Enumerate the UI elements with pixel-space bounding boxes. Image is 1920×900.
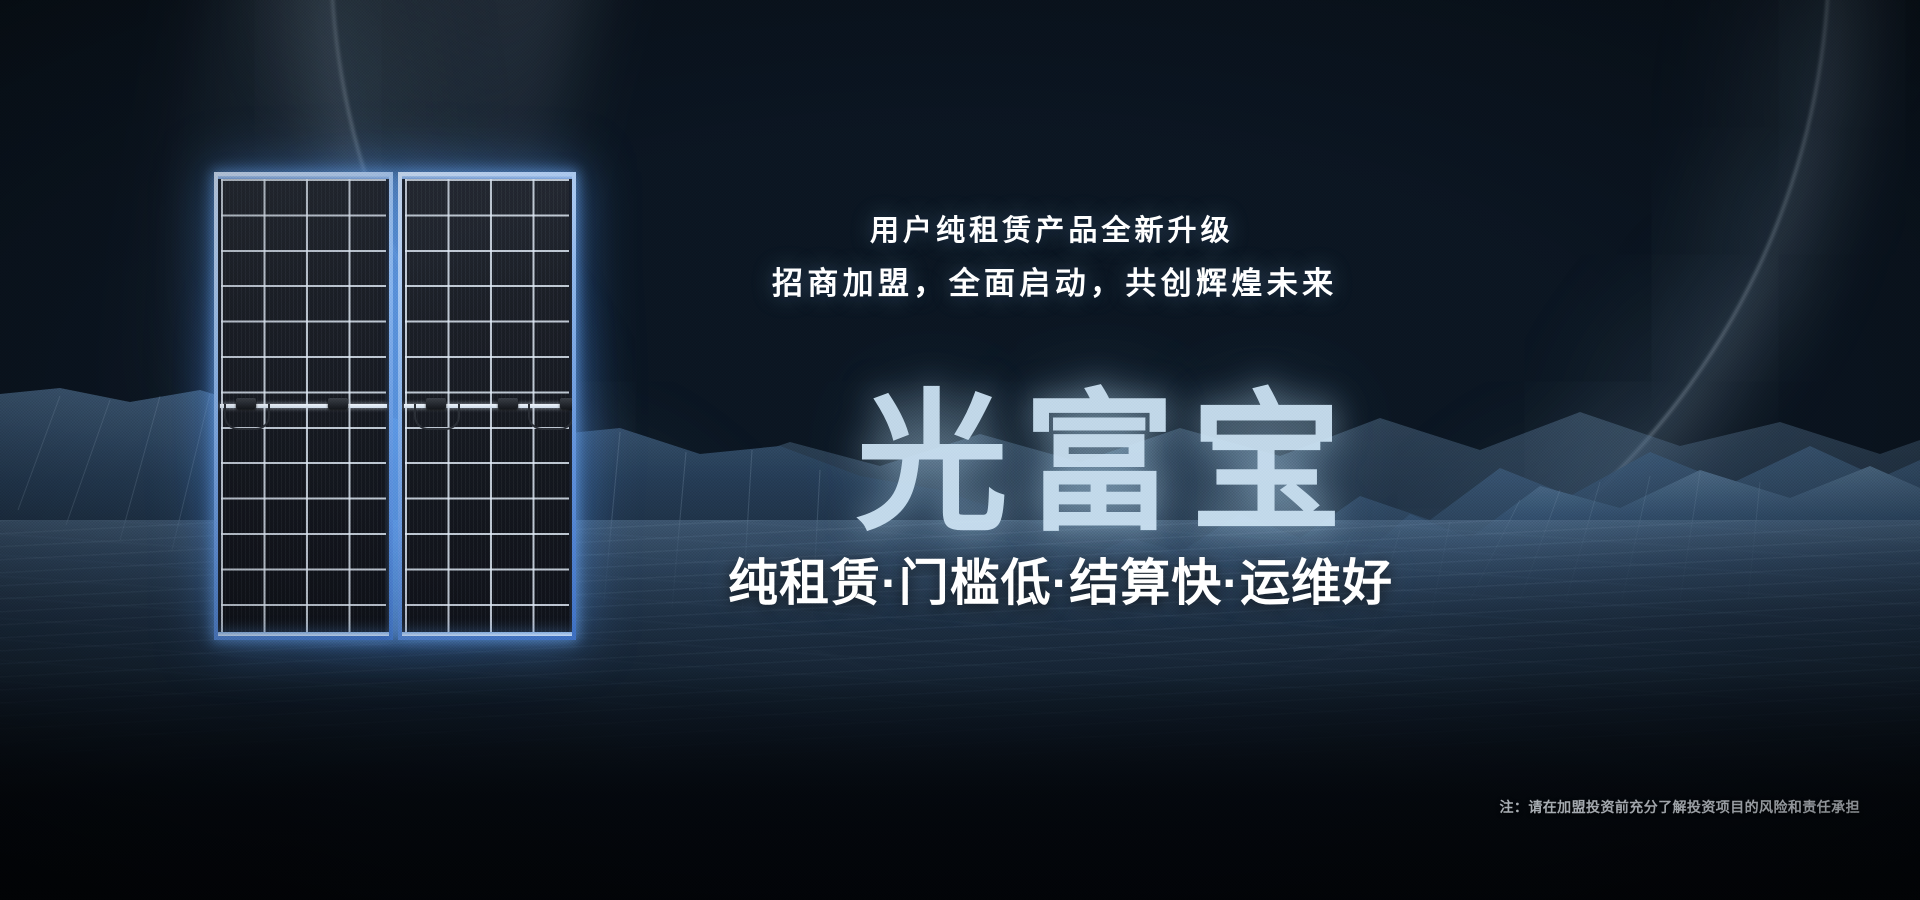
panel-frame-top: [398, 172, 577, 179]
panel-frame-top: [214, 172, 393, 179]
panel-half-left: [214, 172, 393, 640]
panel-cable: [224, 404, 270, 430]
promo-banner: 用户纯租赁产品全新升级 招商加盟，全面启动，共创辉煌未来 光富宝 纯租赁·门槛低…: [0, 0, 1920, 900]
panel-body: [214, 172, 576, 640]
panel-frame-bottom: [398, 632, 577, 640]
panel-frame-bottom: [214, 632, 393, 640]
panel-half-right: [398, 172, 577, 640]
solar-panel-product[interactable]: [214, 172, 576, 640]
junction-box: [498, 398, 518, 409]
foreground-shadow: [0, 670, 1920, 900]
panel-cable: [414, 404, 460, 430]
junction-box: [328, 398, 348, 409]
panel-cable: [528, 404, 574, 430]
